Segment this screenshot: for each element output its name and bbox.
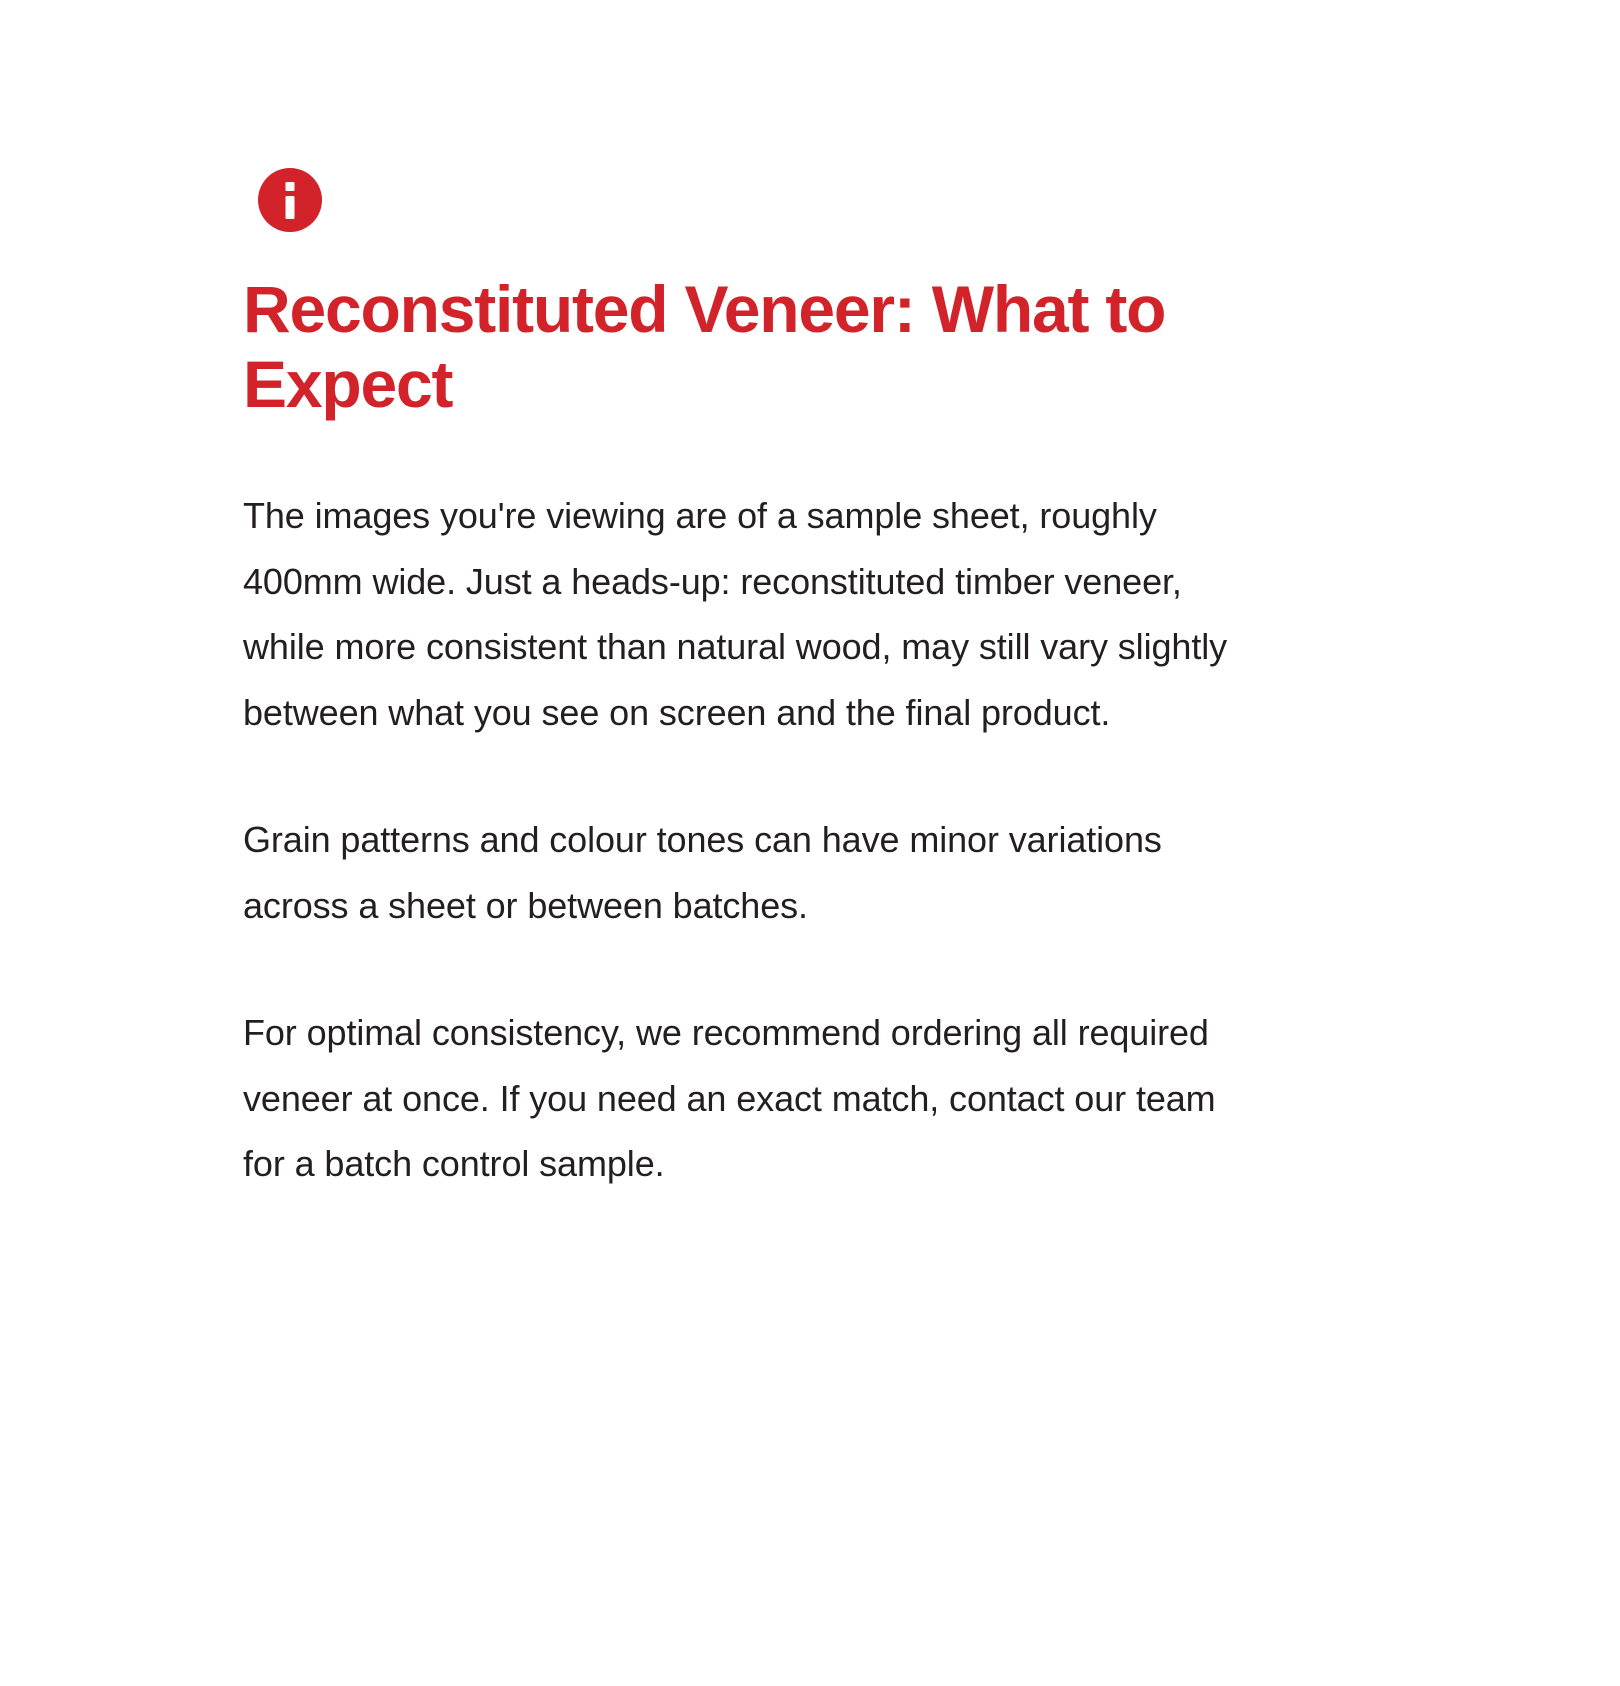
page-title: Reconstituted Veneer: What to Expect: [243, 272, 1243, 421]
paragraph-grain-variation: Grain patterns and colour tones can have…: [243, 807, 1243, 938]
paragraph-ordering-advice: For optimal consistency, we recommend or…: [243, 1000, 1243, 1197]
info-icon: [258, 168, 322, 232]
content-column: Reconstituted Veneer: What to Expect The…: [243, 168, 1253, 1197]
info-panel: Reconstituted Veneer: What to Expect The…: [0, 0, 1620, 1686]
info-icon-dot: [286, 182, 295, 191]
heading-body-divider: [243, 421, 1253, 483]
body-copy: The images you're viewing are of a sampl…: [243, 483, 1243, 1197]
info-icon-stem: [286, 196, 295, 219]
paragraph-sample-sheet: The images you're viewing are of a sampl…: [243, 483, 1243, 745]
